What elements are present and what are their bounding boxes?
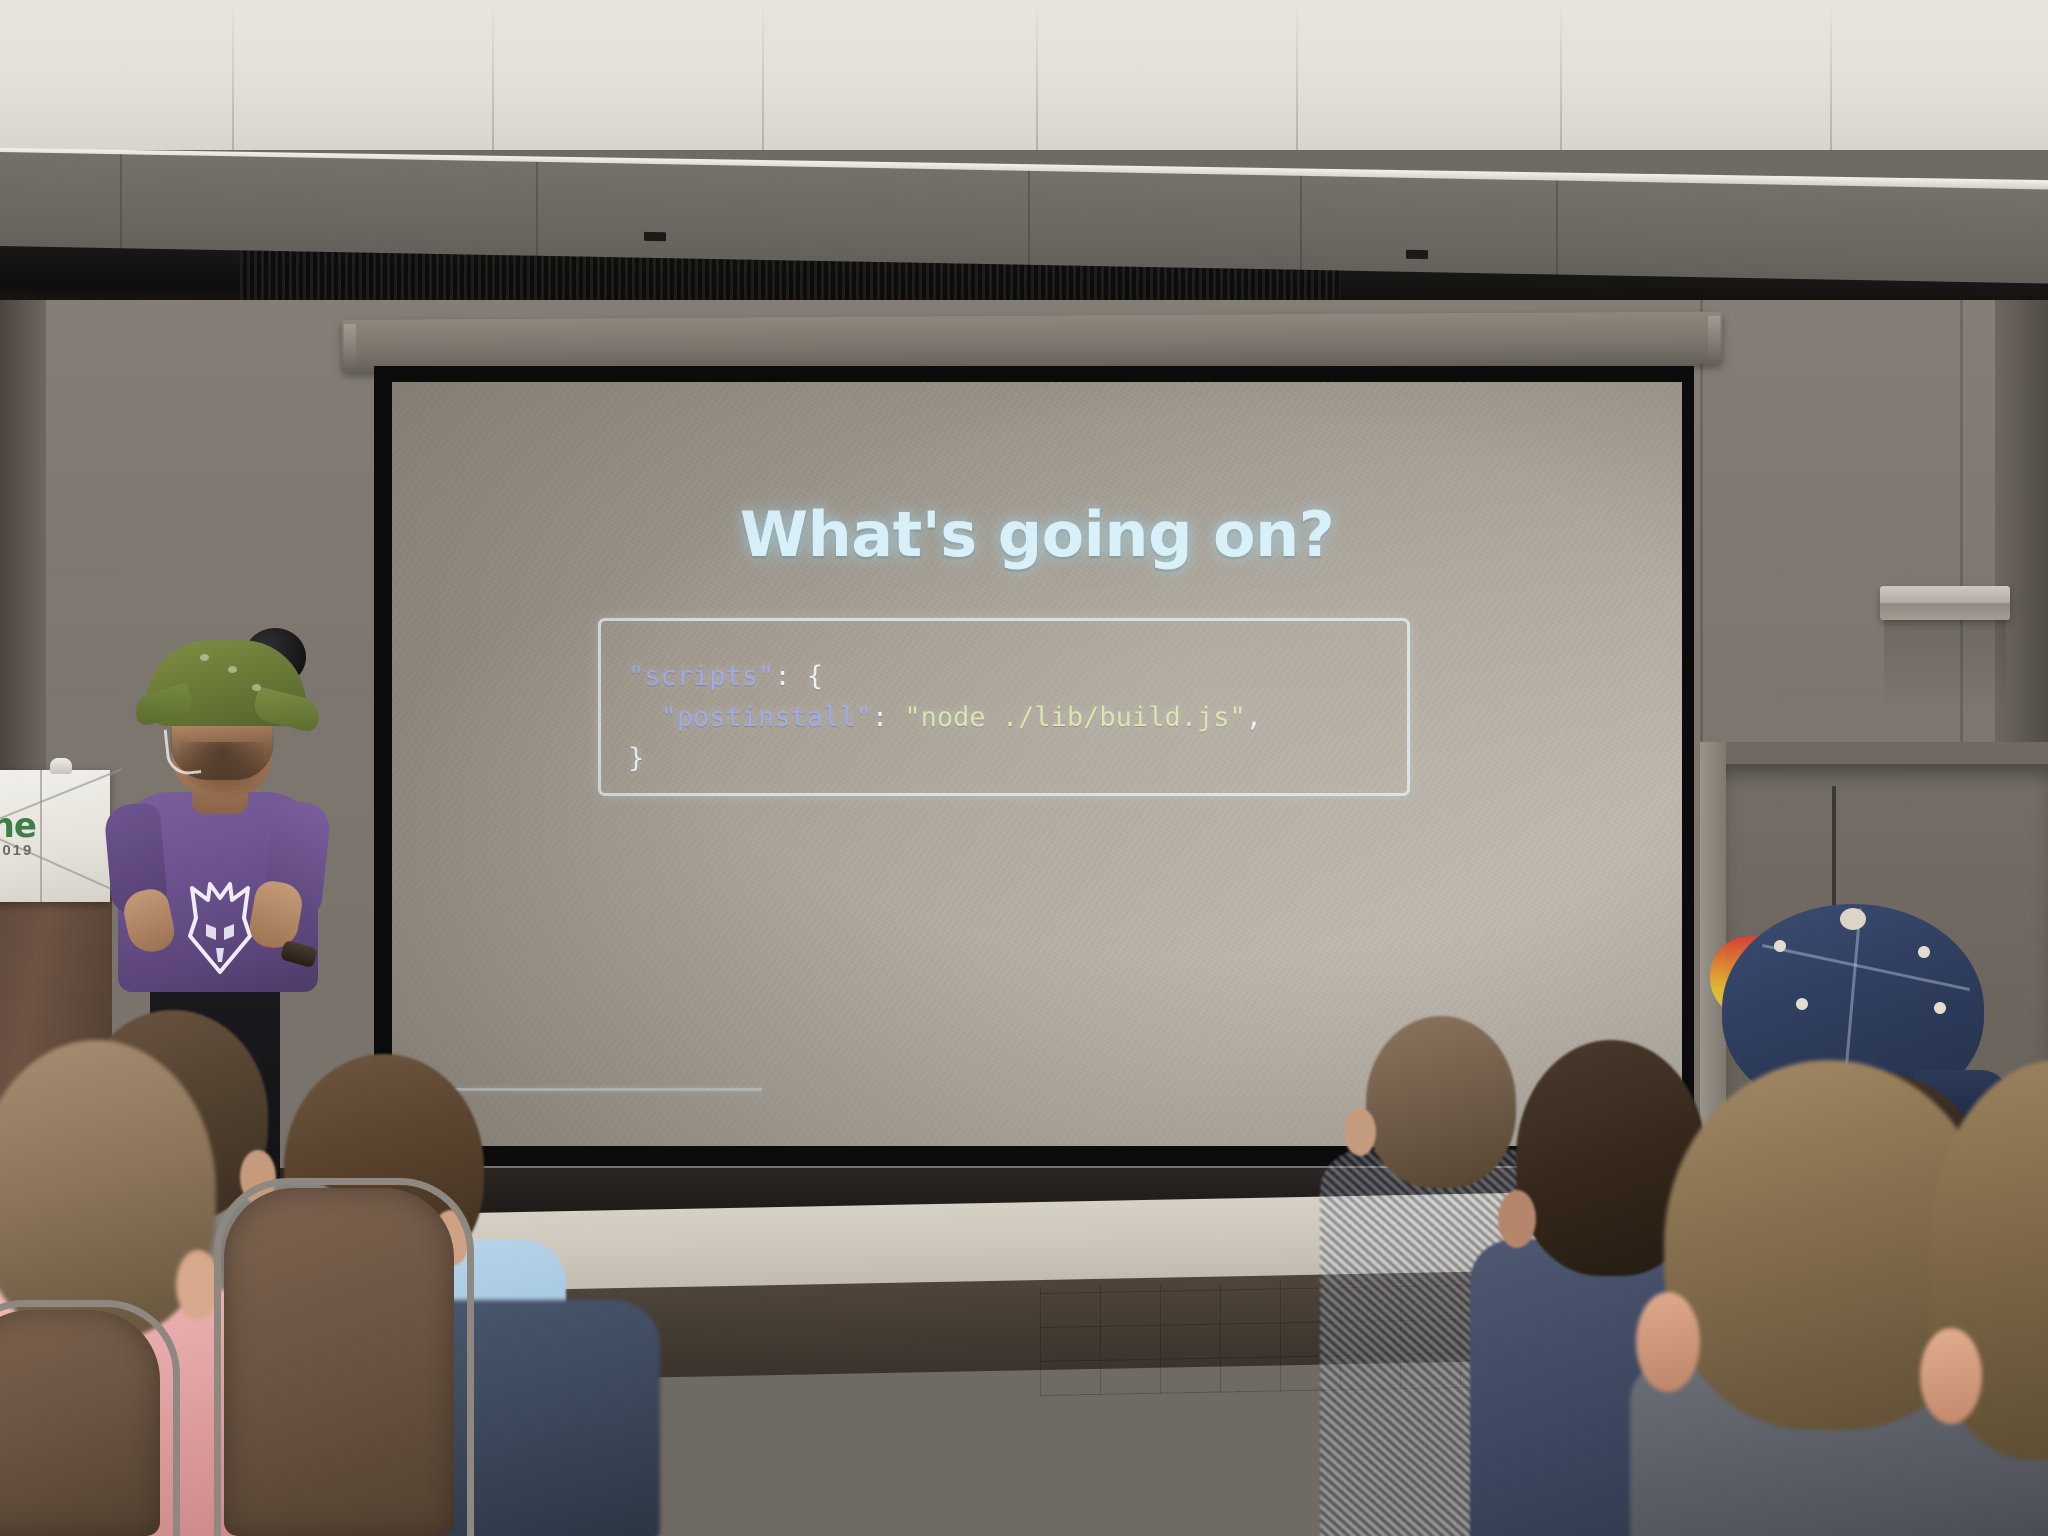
hat-detail (200, 654, 209, 661)
cap-grommet (1934, 1002, 1946, 1014)
conference-sign-name: ine (0, 806, 80, 846)
cap-grommet (1796, 998, 1808, 1010)
wall-panel-seam (1036, 0, 1038, 150)
attendee-ear (1920, 1328, 1982, 1424)
wall-panel-seam (762, 0, 764, 150)
wall-fixture-icon (1880, 586, 2010, 620)
hat-detail (252, 684, 261, 691)
headset-mic-icon (164, 726, 202, 776)
conference-talk-photo: What's going on? "scripts": { "postinsta… (0, 0, 2048, 1536)
cap-button (1840, 908, 1866, 930)
ceiling-vent-icon (1406, 250, 1428, 259)
chair-frame (0, 1300, 180, 1536)
housing-end-cap (344, 324, 356, 368)
cap-grommet (1918, 946, 1930, 958)
conference-sign-year: 2019 (0, 842, 82, 859)
wall-seam (1700, 300, 1703, 760)
attendee-ear (1498, 1190, 1536, 1248)
wall-panel-seam (1560, 0, 1562, 150)
hat-detail (228, 666, 237, 673)
attendee-far-right (1930, 1060, 2048, 1536)
attendee-ear (1636, 1292, 1700, 1392)
wall-panel-seam (232, 0, 234, 150)
fixture-shadow (1884, 618, 2006, 710)
attendee-ear (1344, 1108, 1376, 1156)
wall-panel-seam (1296, 0, 1298, 150)
chair-frame (214, 1178, 474, 1536)
cap-grommet (1774, 940, 1786, 952)
sign-mount-knob (50, 758, 72, 774)
wall-panel-seam (1830, 0, 1832, 150)
ceiling-vent-icon (644, 232, 666, 241)
housing-end-cap (1708, 316, 1720, 360)
wolf-head-logo-icon (182, 878, 258, 976)
screen-roller-housing (342, 312, 1722, 372)
wall-panel-seam (492, 0, 494, 150)
upper-wall (0, 0, 2048, 150)
